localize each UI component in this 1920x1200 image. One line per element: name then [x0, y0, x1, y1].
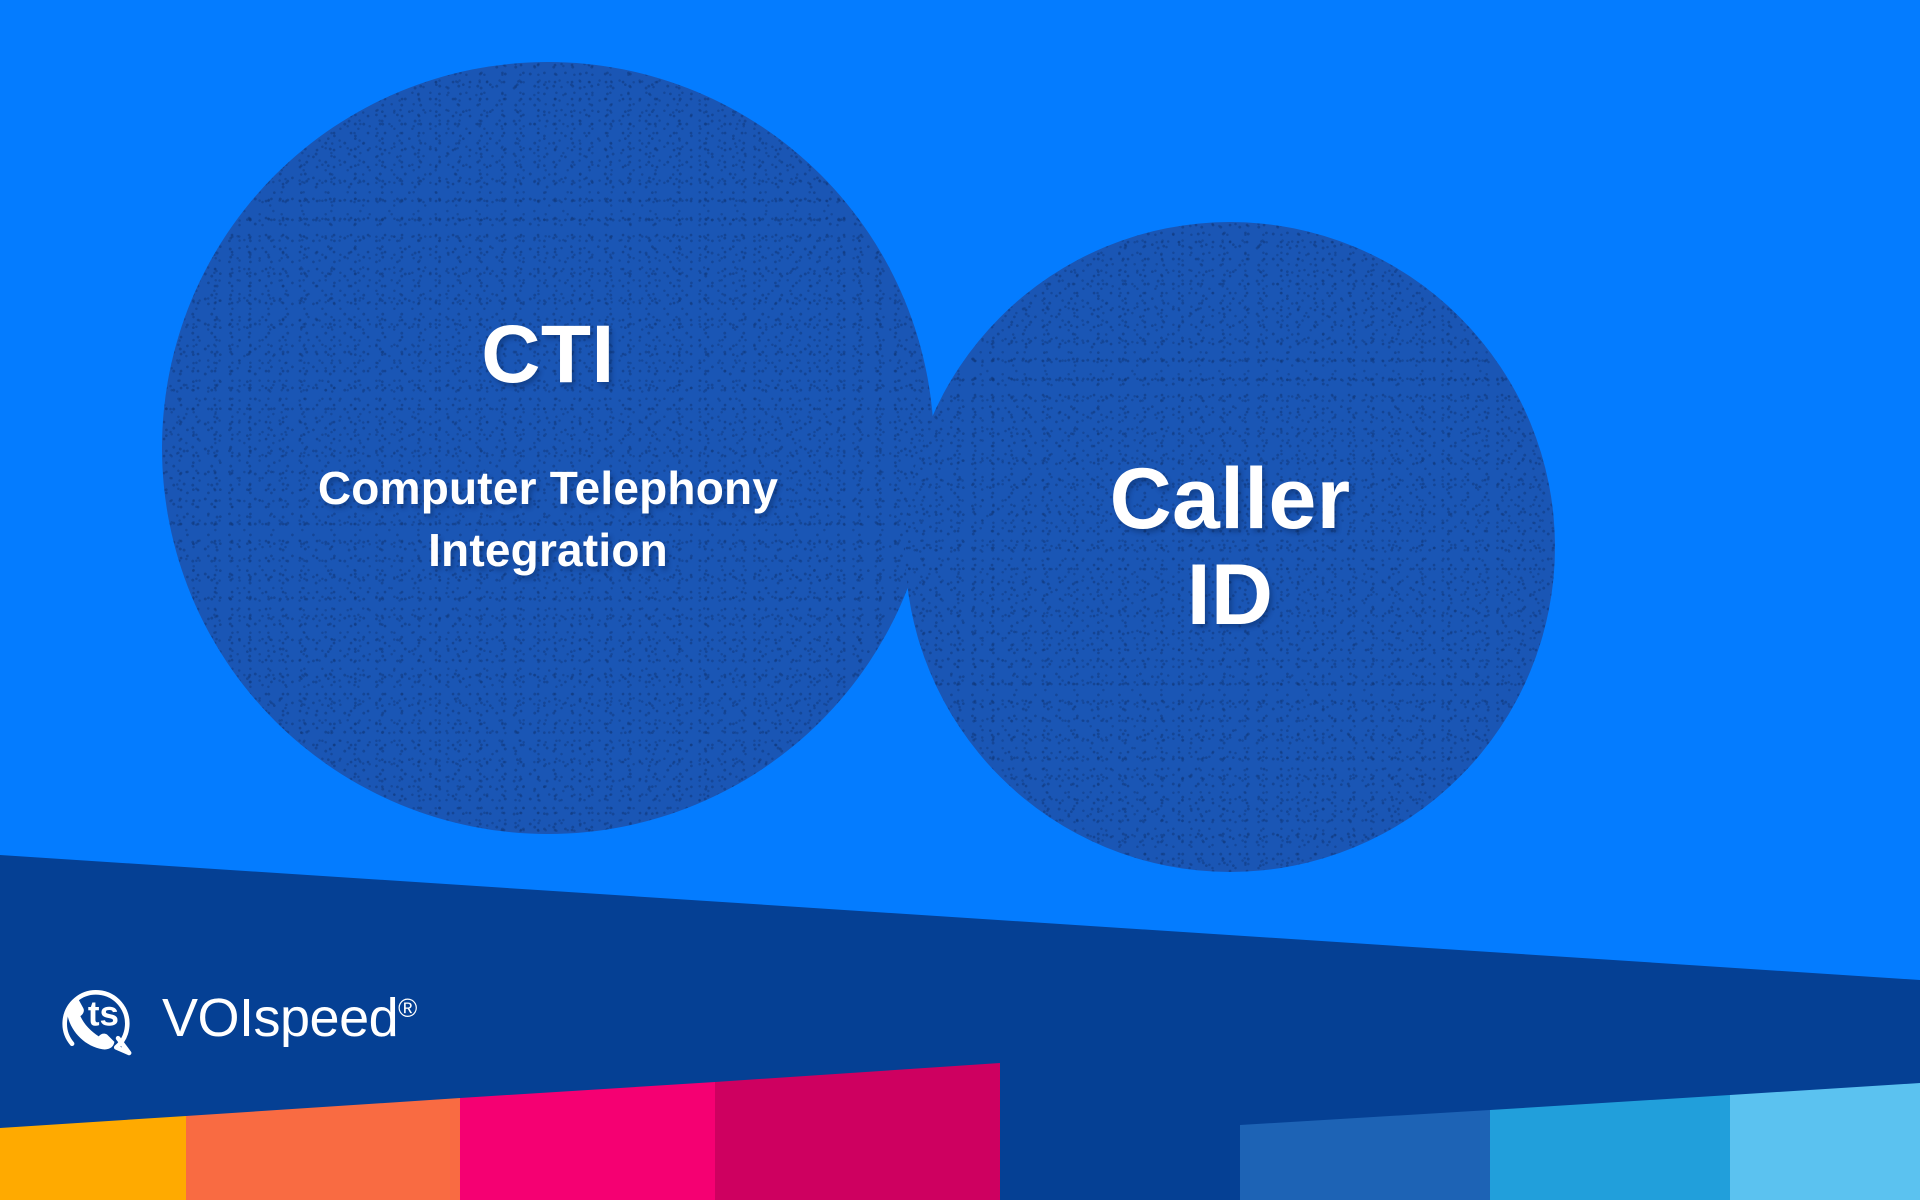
phone-handset-speech-bubble-icon: ts [50, 972, 142, 1064]
wordmark-text: VOIspeed [162, 988, 398, 1048]
svg-text:ts: ts [88, 994, 119, 1033]
cti-abbreviation: CTI [481, 314, 615, 396]
cti-bubble: CTI Computer Telephony Integration [162, 62, 934, 834]
caller-id-bubble: Caller ID [905, 222, 1555, 872]
caller-id-label-line-2: ID [1187, 547, 1274, 643]
voispeed-logo-lockup[interactable]: ts VOIspeed® [50, 972, 417, 1064]
registered-trademark-symbol: ® [398, 993, 417, 1023]
slide-canvas: CTI Computer Telephony Integration Calle… [0, 0, 1920, 1200]
caller-id-label-line-1: Caller [1110, 451, 1351, 547]
cti-expanded-label: Computer Telephony Integration [248, 458, 848, 581]
voispeed-wordmark: VOIspeed® [162, 991, 417, 1045]
